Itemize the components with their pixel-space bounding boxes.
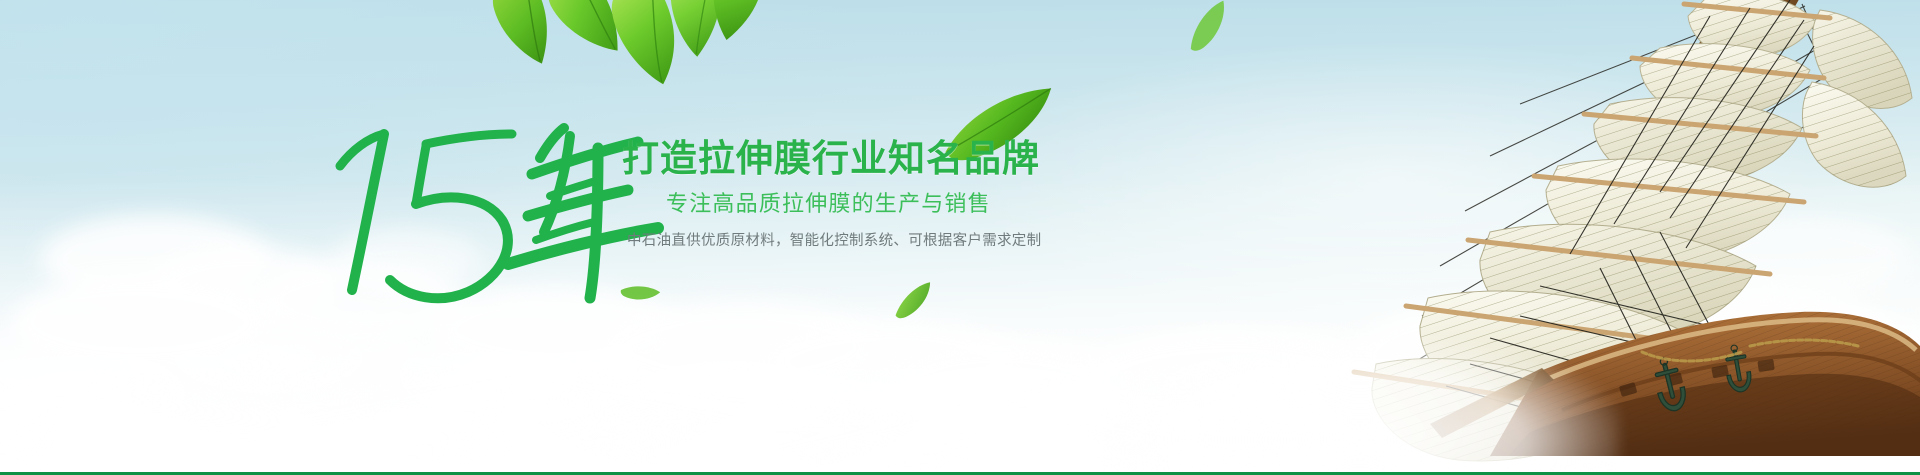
banner-tagline: 中石油直供优质原材料，智能化控制系统、可根据客户需求定制	[522, 234, 942, 249]
banner-subheadline: 专注高品质拉伸膜的生产与销售	[522, 193, 942, 215]
ship-wake-spray	[1100, 335, 1620, 475]
cloud-puff	[1700, 215, 1910, 300]
cloud-puff	[1600, 285, 1900, 400]
banner-headline: 打造拉伸膜行业知名品牌	[522, 140, 942, 177]
cloud-puff	[10, 275, 270, 370]
banner-copy: 打造拉伸膜行业知名品牌 专注高品质拉伸膜的生产与销售 中石油直供优质原材料，智能…	[522, 140, 942, 249]
hero-banner: 打造拉伸膜行业知名品牌 专注高品质拉伸膜的生产与销售 中石油直供优质原材料，智能…	[0, 0, 1920, 475]
